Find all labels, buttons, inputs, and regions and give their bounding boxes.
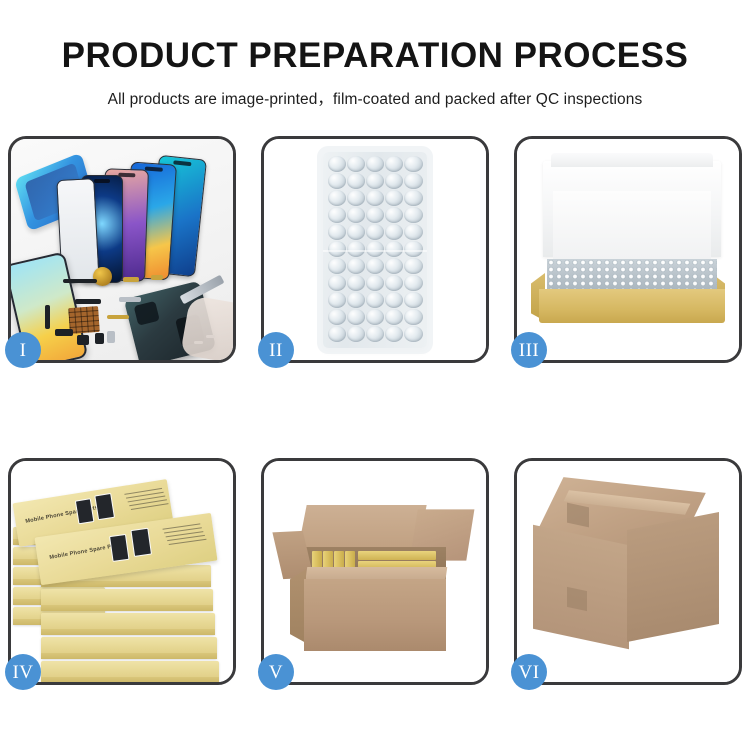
speaker-part [93, 267, 112, 286]
stacked-box [41, 589, 213, 611]
product-preparation-infographic: PRODUCT PREPARATION PROCESS All products… [0, 0, 750, 750]
charging-port-flex-part [107, 315, 129, 319]
packed-box [358, 551, 436, 560]
page-title: PRODUCT PREPARATION PROCESS [0, 38, 750, 73]
stacked-box [41, 637, 217, 659]
step-image-2 [264, 139, 486, 360]
step-badge-5: V [258, 654, 294, 690]
step-panel-6: VI [514, 458, 742, 685]
step-panel-1: I [8, 136, 236, 363]
flex-cable-part [123, 277, 139, 282]
carton-seam [567, 587, 587, 611]
flex-cable-part [151, 275, 163, 280]
box-phone-image [94, 493, 115, 520]
box-phone-image [75, 498, 95, 524]
sensor-flex-part [75, 299, 101, 304]
step-panel-5: V [261, 458, 489, 685]
header: PRODUCT PREPARATION PROCESS All products… [0, 0, 750, 109]
box-phone-image [109, 534, 129, 562]
carton-flap-back [297, 505, 426, 553]
bubble-wrap-texture [547, 259, 717, 291]
battery-connector-part [95, 333, 104, 344]
notch-icon [173, 160, 192, 166]
step-badge-4: IV [5, 654, 41, 690]
carton-side-panel [627, 512, 719, 642]
earpiece-mesh-part [63, 279, 97, 283]
step-image-6 [517, 461, 739, 682]
step-image-3 [517, 139, 739, 360]
box-front-panel [539, 289, 725, 323]
shield-plate-part [119, 297, 141, 302]
steps-grid: I [8, 136, 742, 684]
foam-sheet [553, 191, 711, 259]
step-badge-1: I [5, 332, 41, 368]
carton-front-panel [304, 579, 446, 651]
stacked-box [41, 661, 219, 682]
step-panel-3: III [514, 136, 742, 363]
box-contents [547, 259, 717, 291]
notch-icon [94, 179, 110, 183]
step-badge-3: III [511, 332, 547, 368]
step-panel-2: II [261, 136, 489, 363]
box-stack: Mobile Phone Spare Parts Mobile Phone Sp… [11, 461, 233, 682]
sim-tray-part [107, 331, 115, 343]
step-image-1 [11, 139, 233, 360]
step-badge-6: VI [511, 654, 547, 690]
step-badge-2: II [258, 332, 294, 368]
phone-screen-fan [57, 157, 233, 287]
stacked-box [41, 613, 215, 635]
antenna-strip-part [45, 305, 50, 329]
step-image-5 [264, 461, 486, 682]
bubble-wrapped-item [323, 152, 427, 348]
page-subtitle: All products are image-printed，film-coat… [0, 87, 750, 109]
camera-module-part [55, 329, 73, 336]
bag-seam [323, 250, 427, 252]
vibrator-part [77, 335, 89, 345]
step-image-4: Mobile Phone Spare Parts Mobile Phone Sp… [11, 461, 233, 682]
box-phone-image [130, 528, 152, 557]
step-panel-4: Mobile Phone Spare Parts Mobile Phone Sp… [8, 458, 236, 685]
notch-icon [145, 167, 163, 172]
carton-front-panel [533, 525, 629, 649]
